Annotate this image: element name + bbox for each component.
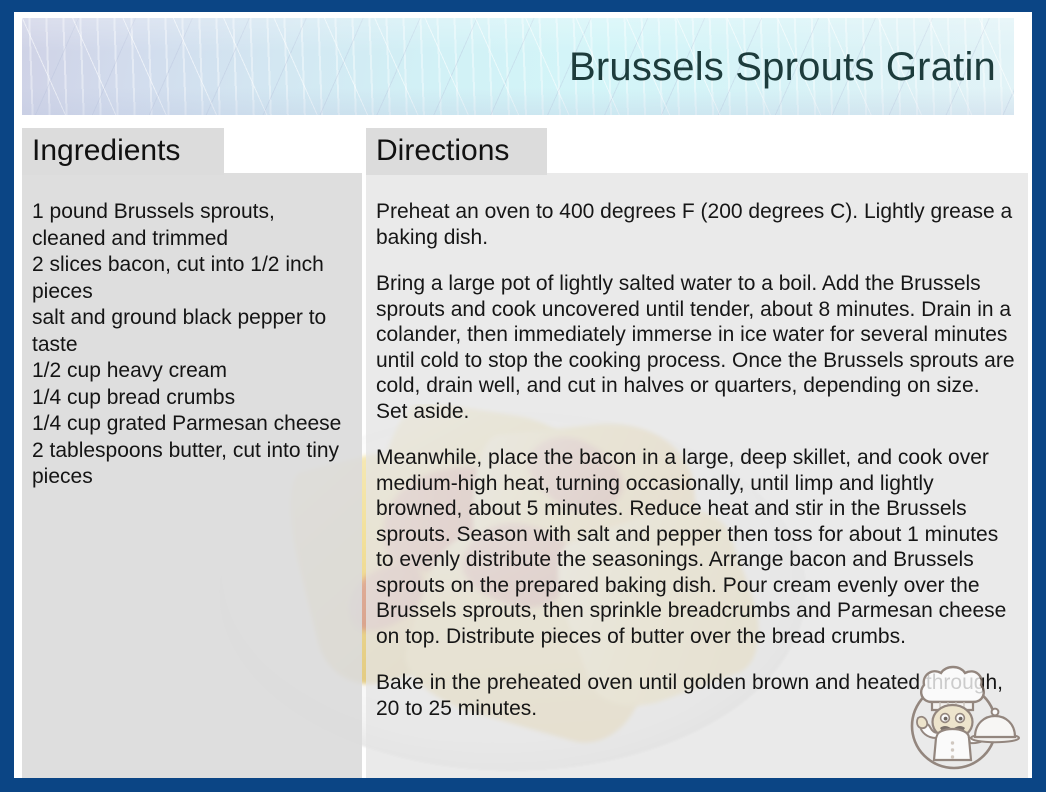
- direction-step: Preheat an oven to 400 degrees F (200 de…: [376, 199, 1016, 250]
- list-item: 2 tablespoons butter, cut into tiny piec…: [32, 438, 350, 491]
- list-item: 1/4 cup grated Parmesan cheese: [32, 411, 350, 438]
- list-item: 2 slices bacon, cut into 1/2 inch pieces: [32, 252, 350, 305]
- direction-step: Bake in the preheated oven until golden …: [376, 670, 1016, 721]
- direction-step: Bring a large pot of lightly salted wate…: [376, 271, 1016, 424]
- directions-panel: Preheat an oven to 400 degrees F (200 de…: [366, 173, 1028, 778]
- list-item: salt and ground black pepper to taste: [32, 305, 350, 358]
- ingredients-panel: 1 pound Brussels sprouts, cleaned and tr…: [22, 173, 362, 778]
- list-item: 1/4 cup bread crumbs: [32, 385, 350, 412]
- direction-step: Meanwhile, place the bacon in a large, d…: [376, 445, 1016, 649]
- recipe-card: Brussels Sprouts Gratin Ingredients 1 po…: [0, 0, 1046, 792]
- title-banner: Brussels Sprouts Gratin: [22, 18, 1014, 115]
- list-item: 1 pound Brussels sprouts, cleaned and tr…: [32, 199, 350, 252]
- list-item: 1/2 cup heavy cream: [32, 358, 350, 385]
- directions-column: Directions Preheat an oven to 400 degree…: [366, 128, 1028, 778]
- directions-heading: Directions: [366, 128, 547, 175]
- ingredients-heading: Ingredients: [22, 128, 224, 175]
- recipe-page: Brussels Sprouts Gratin Ingredients 1 po…: [14, 12, 1032, 778]
- recipe-title: Brussels Sprouts Gratin: [569, 46, 996, 88]
- ingredients-column: Ingredients 1 pound Brussels sprouts, cl…: [22, 128, 362, 778]
